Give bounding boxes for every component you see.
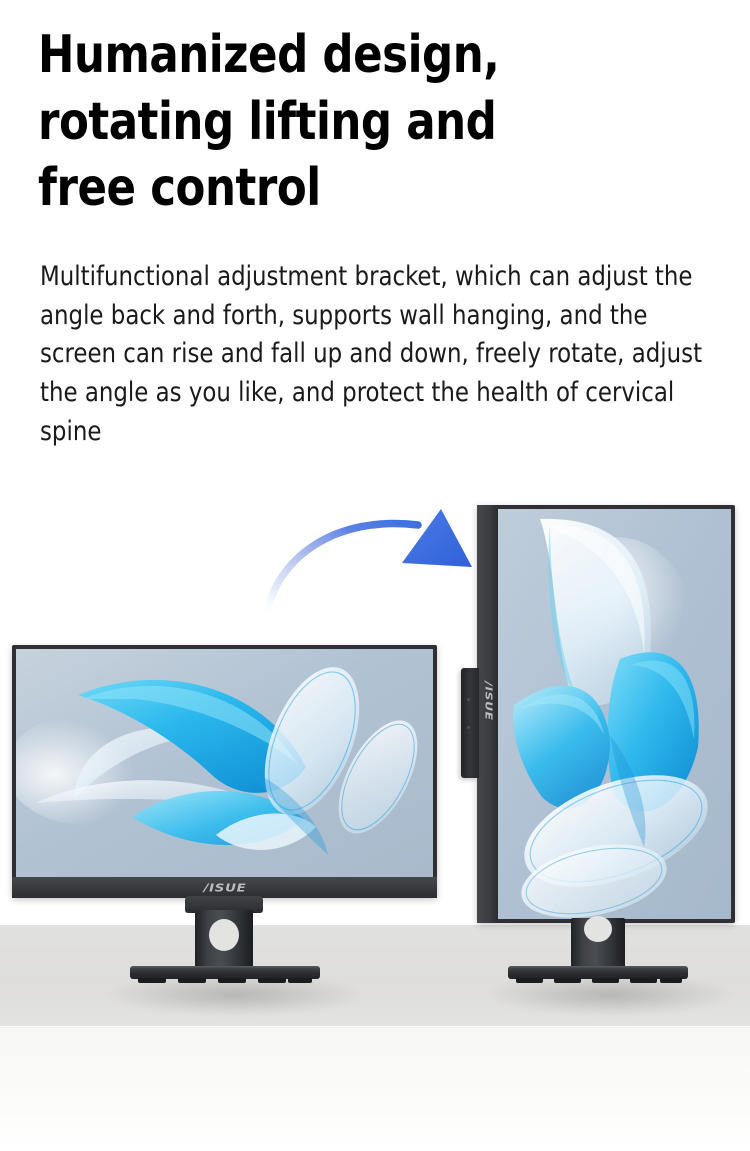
monitor-portrait-hinge-block bbox=[461, 668, 479, 778]
monitor-portrait[interactable]: /ISUE bbox=[477, 505, 735, 923]
stand-foot-right-2 bbox=[554, 978, 581, 983]
wallpaper-portrait bbox=[498, 509, 731, 919]
monitor-portrait-screen bbox=[498, 509, 731, 919]
arrow-curve bbox=[266, 524, 418, 617]
product-feature-page: Humanized design, rotating lifting and f… bbox=[0, 0, 750, 1151]
monitor-portrait-side-bezel: /ISUE bbox=[477, 505, 498, 923]
hinge-screw-top bbox=[467, 698, 470, 701]
rotation-arrow bbox=[250, 495, 490, 625]
stand-cable-hole-right bbox=[584, 916, 612, 942]
monitor-landscape-screen bbox=[16, 649, 433, 877]
stand-foot-right-5 bbox=[660, 978, 682, 983]
stand-foot-left-3 bbox=[218, 978, 246, 983]
stand-foot-right-1 bbox=[516, 978, 543, 983]
asus-logo-portrait: /ISUE bbox=[482, 682, 493, 721]
stand-foot-left-1 bbox=[138, 978, 166, 983]
arrow-head bbox=[402, 509, 472, 567]
wallpaper-landscape bbox=[16, 649, 433, 877]
desk-front-face bbox=[0, 1028, 750, 1151]
monitor-landscape[interactable]: /ISUE bbox=[12, 645, 437, 898]
stand-foot-left-2 bbox=[178, 978, 206, 983]
asus-logo-landscape: /ISUE bbox=[203, 881, 246, 894]
stand-foot-left-5 bbox=[288, 978, 312, 983]
page-title: Humanized design, rotating lifting and f… bbox=[38, 22, 680, 222]
hinge-screw-bottom bbox=[467, 726, 470, 729]
stand-foot-right-4 bbox=[630, 978, 657, 983]
feature-description: Multifunctional adjustment bracket, whic… bbox=[40, 258, 712, 451]
monitor-landscape-chin: /ISUE bbox=[12, 877, 437, 898]
stand-foot-left-4 bbox=[258, 978, 286, 983]
stand-cable-hole-left bbox=[209, 919, 239, 951]
stand-foot-right-3 bbox=[592, 978, 619, 983]
